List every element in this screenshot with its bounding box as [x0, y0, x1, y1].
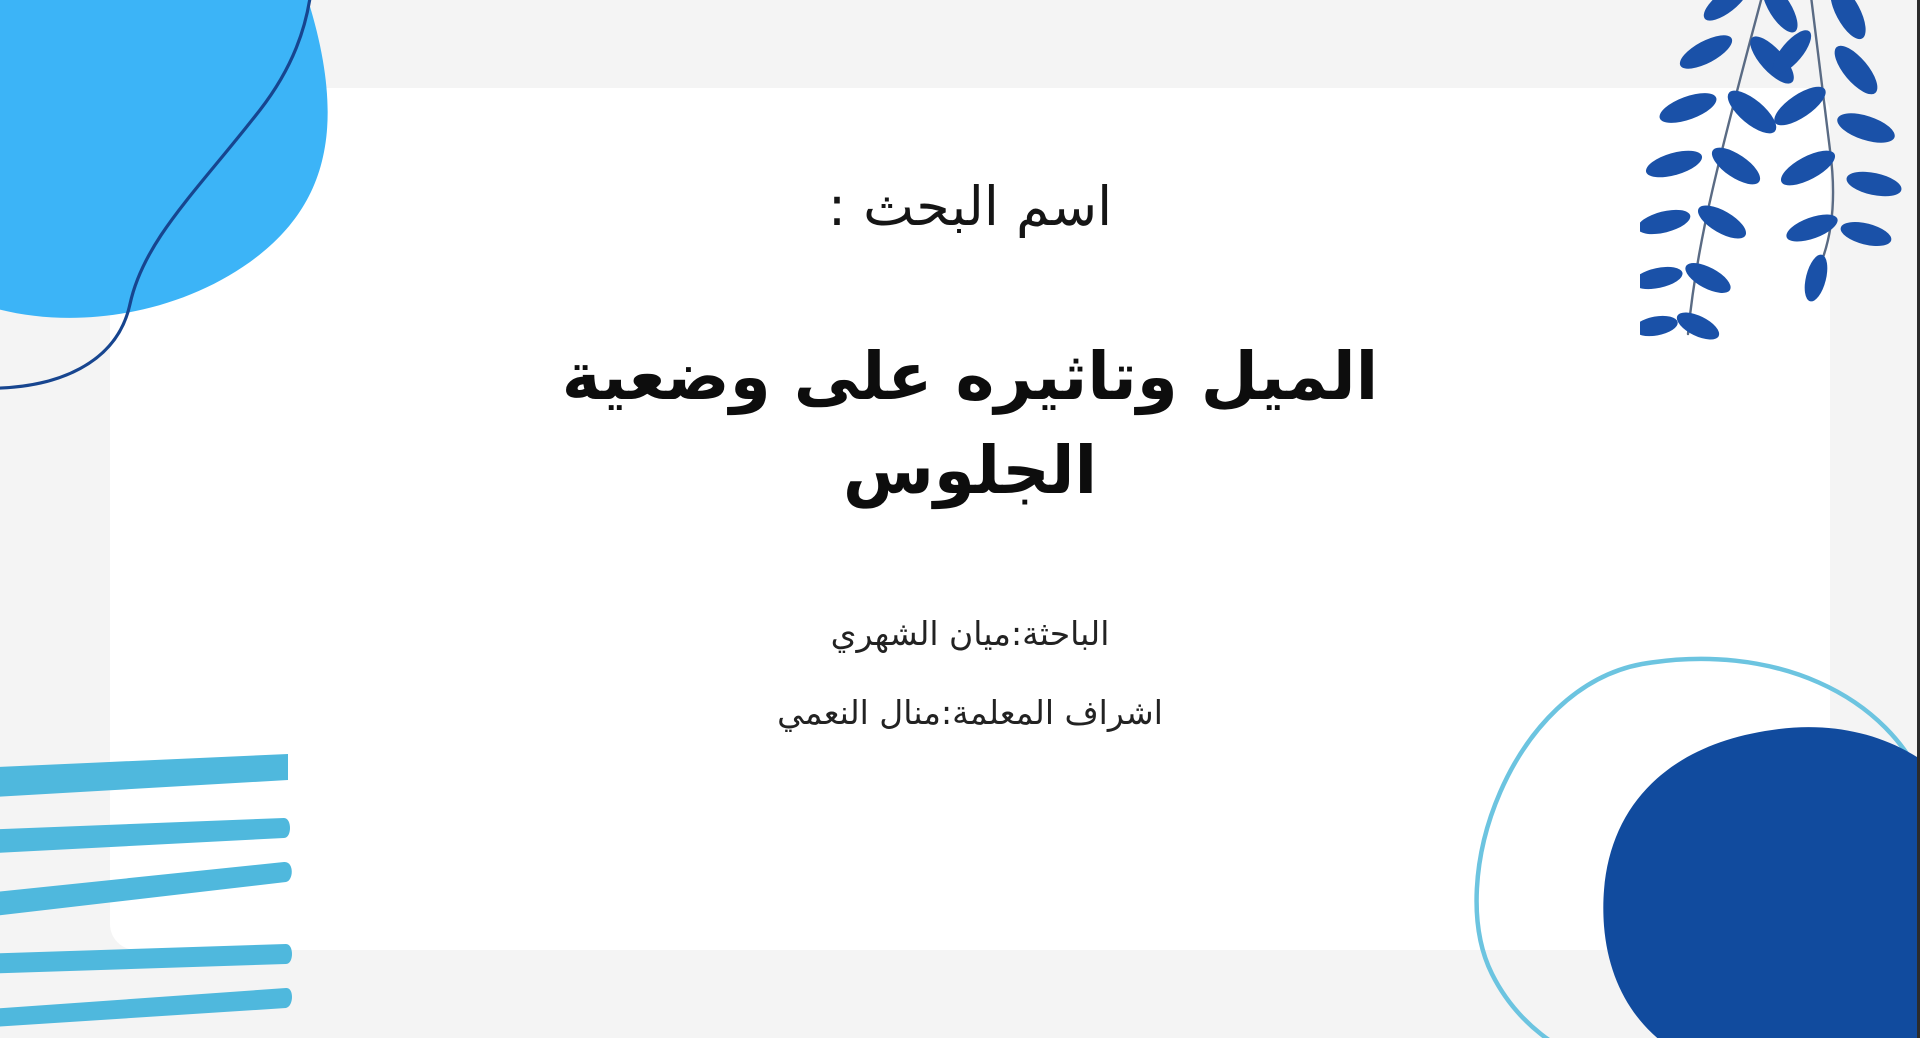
page-title: الميل وتاثيره على وضعية الجلوس — [520, 330, 1420, 517]
page-title-line-2: الجلوس — [520, 424, 1420, 518]
page-title-line-1: الميل وتاثيره على وضعية — [520, 330, 1420, 424]
slide-content: اسم البحث : الميل وتاثيره على وضعية الجل… — [110, 88, 1830, 950]
researcher-credit: الباحثة:ميان الشهري — [831, 614, 1110, 654]
supervisor-credit: اشراف المعلمة:منال النعمي — [777, 693, 1163, 733]
research-name-label: اسم البحث : — [828, 176, 1112, 238]
credits-block: الباحثة:ميان الشهري اشراف المعلمة:منال ا… — [777, 614, 1163, 733]
title-slide: اسم البحث : الميل وتاثيره على وضعية الجل… — [0, 0, 1920, 1038]
